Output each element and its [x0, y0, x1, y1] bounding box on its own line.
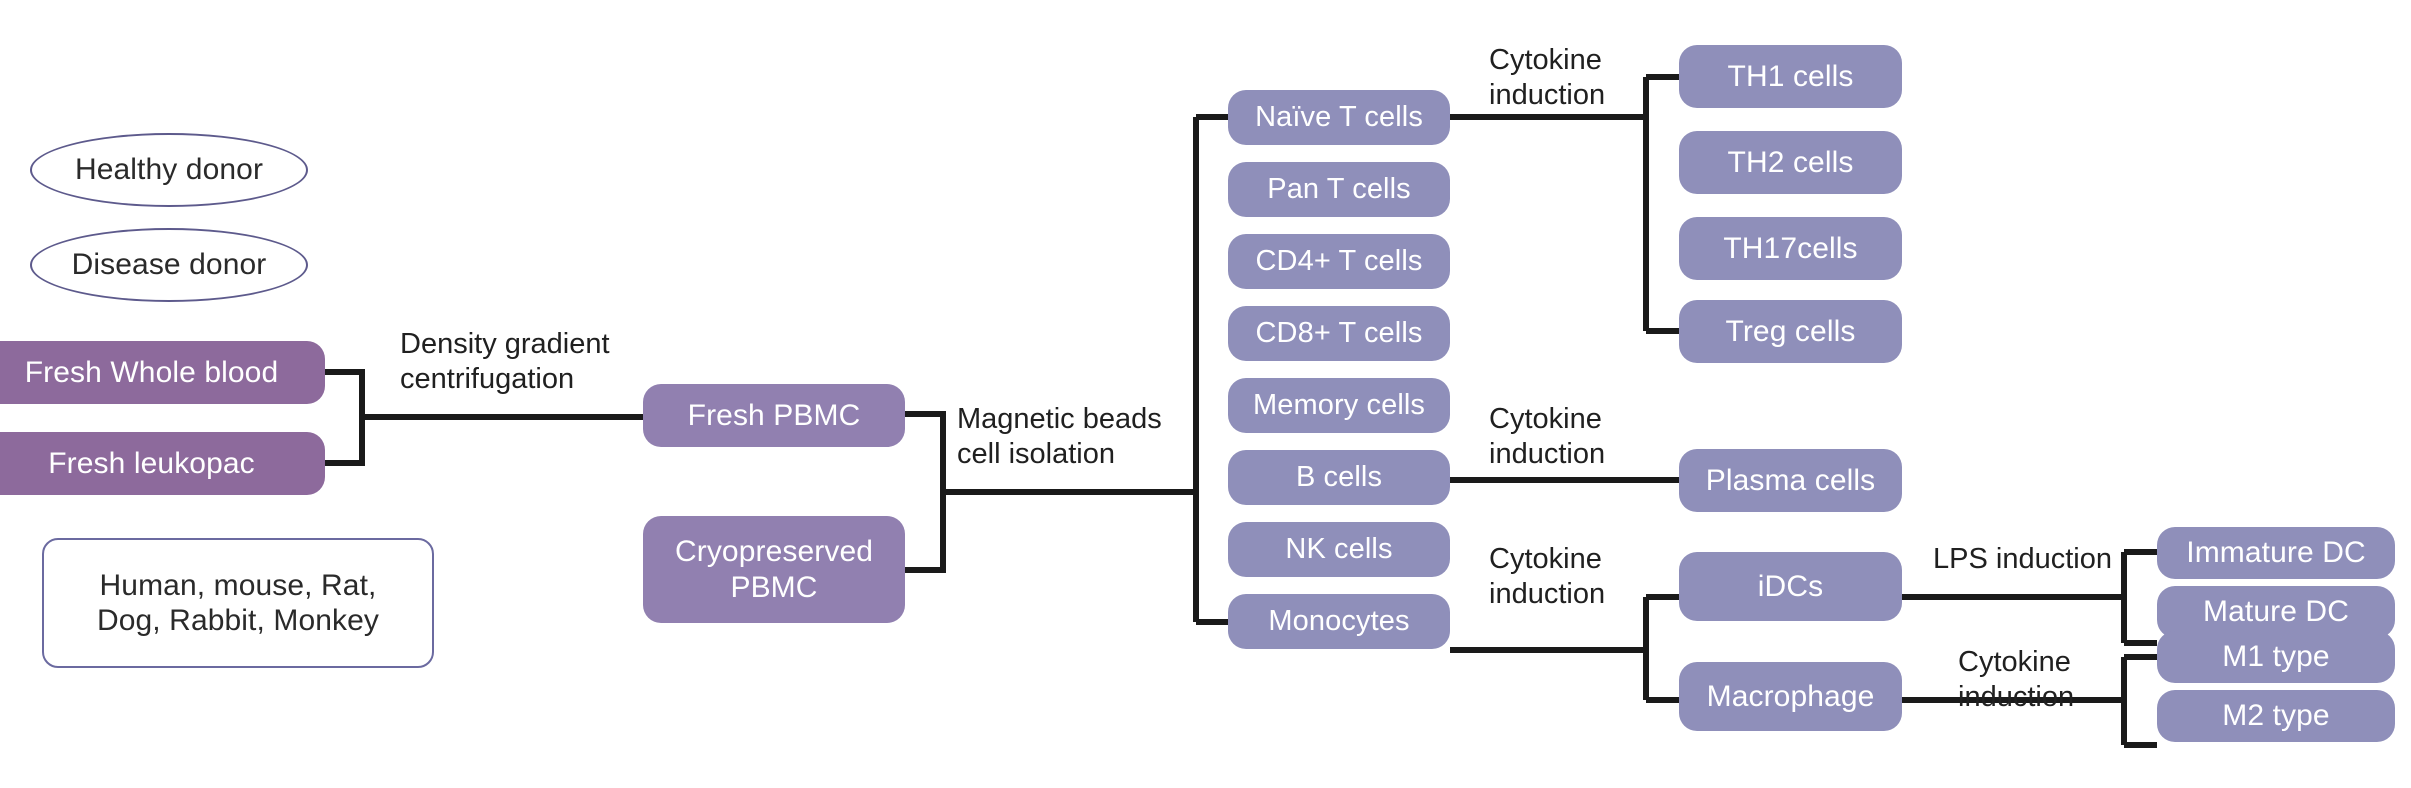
subset-m1-type[interactable]: M1 type [2157, 631, 2395, 683]
pbmc-cryopreserved-pbmc-label: Cryopreserved PBMC [675, 534, 873, 605]
myeloid-idcs[interactable]: iDCs [1679, 552, 1902, 621]
edge-label-density-gradient-centrifugation: Density gradient centrifugation [400, 327, 610, 398]
donor-healthy-donor-label: Healthy donor [75, 152, 263, 187]
cell-b-cells-label: B cells [1296, 460, 1382, 494]
cell-b-cells[interactable]: B cells [1228, 450, 1450, 505]
cell-nk-cells-label: NK cells [1285, 532, 1392, 566]
donor-disease-donor-label: Disease donor [72, 247, 267, 282]
cell-cd4-t-cells-label: CD4+ T cells [1256, 244, 1423, 278]
subset-m1-type-label: M1 type [2222, 639, 2329, 674]
subset-th2-cells[interactable]: TH2 cells [1679, 131, 1902, 194]
subset-treg-cells-label: Treg cells [1726, 314, 1856, 349]
subset-m2-type[interactable]: M2 type [2157, 690, 2395, 742]
cell-monocytes[interactable]: Monocytes [1228, 594, 1450, 649]
myeloid-macrophage[interactable]: Macrophage [1679, 662, 1902, 731]
subset-plasma-cells[interactable]: Plasma cells [1679, 449, 1902, 512]
edge-label-cytokine-induction-mono: Cytokine induction [1489, 542, 1605, 613]
cell-cd8-t-cells[interactable]: CD8+ T cells [1228, 306, 1450, 361]
cell-naive-t-cells[interactable]: Naïve T cells [1228, 90, 1450, 145]
cell-cd4-t-cells[interactable]: CD4+ T cells [1228, 234, 1450, 289]
cell-cd8-t-cells-label: CD8+ T cells [1256, 316, 1423, 350]
source-fresh-leukopac[interactable]: Fresh leukopac [0, 432, 325, 495]
source-fresh-whole-blood-label: Fresh Whole blood [25, 355, 279, 390]
cell-memory-cells[interactable]: Memory cells [1228, 378, 1450, 433]
flow-diagram-canvas: Healthy donor Disease donor Fresh Whole … [0, 0, 2411, 788]
species-box-label: Human, mouse, Rat, Dog, Rabbit, Monkey [97, 568, 379, 639]
subset-th2-cells-label: TH2 cells [1728, 145, 1854, 180]
cell-naive-t-cells-label: Naïve T cells [1255, 100, 1423, 134]
pbmc-fresh-pbmc[interactable]: Fresh PBMC [643, 384, 905, 447]
subset-immature-dc-label: Immature DC [2186, 535, 2365, 570]
subset-th1-cells[interactable]: TH1 cells [1679, 45, 1902, 108]
edge-label-cytokine-induction-t: Cytokine induction [1489, 43, 1605, 114]
subset-plasma-cells-label: Plasma cells [1706, 463, 1876, 498]
cell-nk-cells[interactable]: NK cells [1228, 522, 1450, 577]
edge-label-magnetic-beads-cell-isolation: Magnetic beads cell isolation [957, 402, 1162, 473]
cell-pan-t-cells[interactable]: Pan T cells [1228, 162, 1450, 217]
cell-memory-cells-label: Memory cells [1253, 388, 1425, 422]
edge-label-lps-induction: LPS induction [1933, 542, 2112, 577]
subset-th17-cells-label: TH17cells [1723, 231, 1857, 266]
subset-m2-type-label: M2 type [2222, 698, 2329, 733]
donor-healthy-donor[interactable]: Healthy donor [30, 133, 308, 207]
cell-monocytes-label: Monocytes [1268, 604, 1409, 638]
donor-disease-donor[interactable]: Disease donor [30, 228, 308, 302]
pbmc-cryopreserved-pbmc[interactable]: Cryopreserved PBMC [643, 516, 905, 623]
edge-sources-bracket [325, 372, 362, 463]
cell-pan-t-cells-label: Pan T cells [1267, 172, 1411, 206]
edge-label-cytokine-induction-b: Cytokine induction [1489, 402, 1605, 473]
subset-treg-cells[interactable]: Treg cells [1679, 300, 1902, 363]
myeloid-macrophage-label: Macrophage [1707, 679, 1875, 714]
subset-th1-cells-label: TH1 cells [1728, 59, 1854, 94]
subset-immature-dc[interactable]: Immature DC [2157, 527, 2395, 579]
subset-mature-dc-label: Mature DC [2203, 594, 2349, 629]
edge-pbmc-bracket [905, 414, 943, 570]
species-box[interactable]: Human, mouse, Rat, Dog, Rabbit, Monkey [42, 538, 434, 668]
subset-th17-cells[interactable]: TH17cells [1679, 217, 1902, 280]
pbmc-fresh-pbmc-label: Fresh PBMC [688, 398, 861, 433]
myeloid-idcs-label: iDCs [1758, 569, 1823, 604]
edge-label-cytokine-induction-macrophage: Cytokine induction [1958, 645, 2074, 716]
source-fresh-whole-blood[interactable]: Fresh Whole blood [0, 341, 325, 404]
source-fresh-leukopac-label: Fresh leukopac [48, 446, 255, 481]
